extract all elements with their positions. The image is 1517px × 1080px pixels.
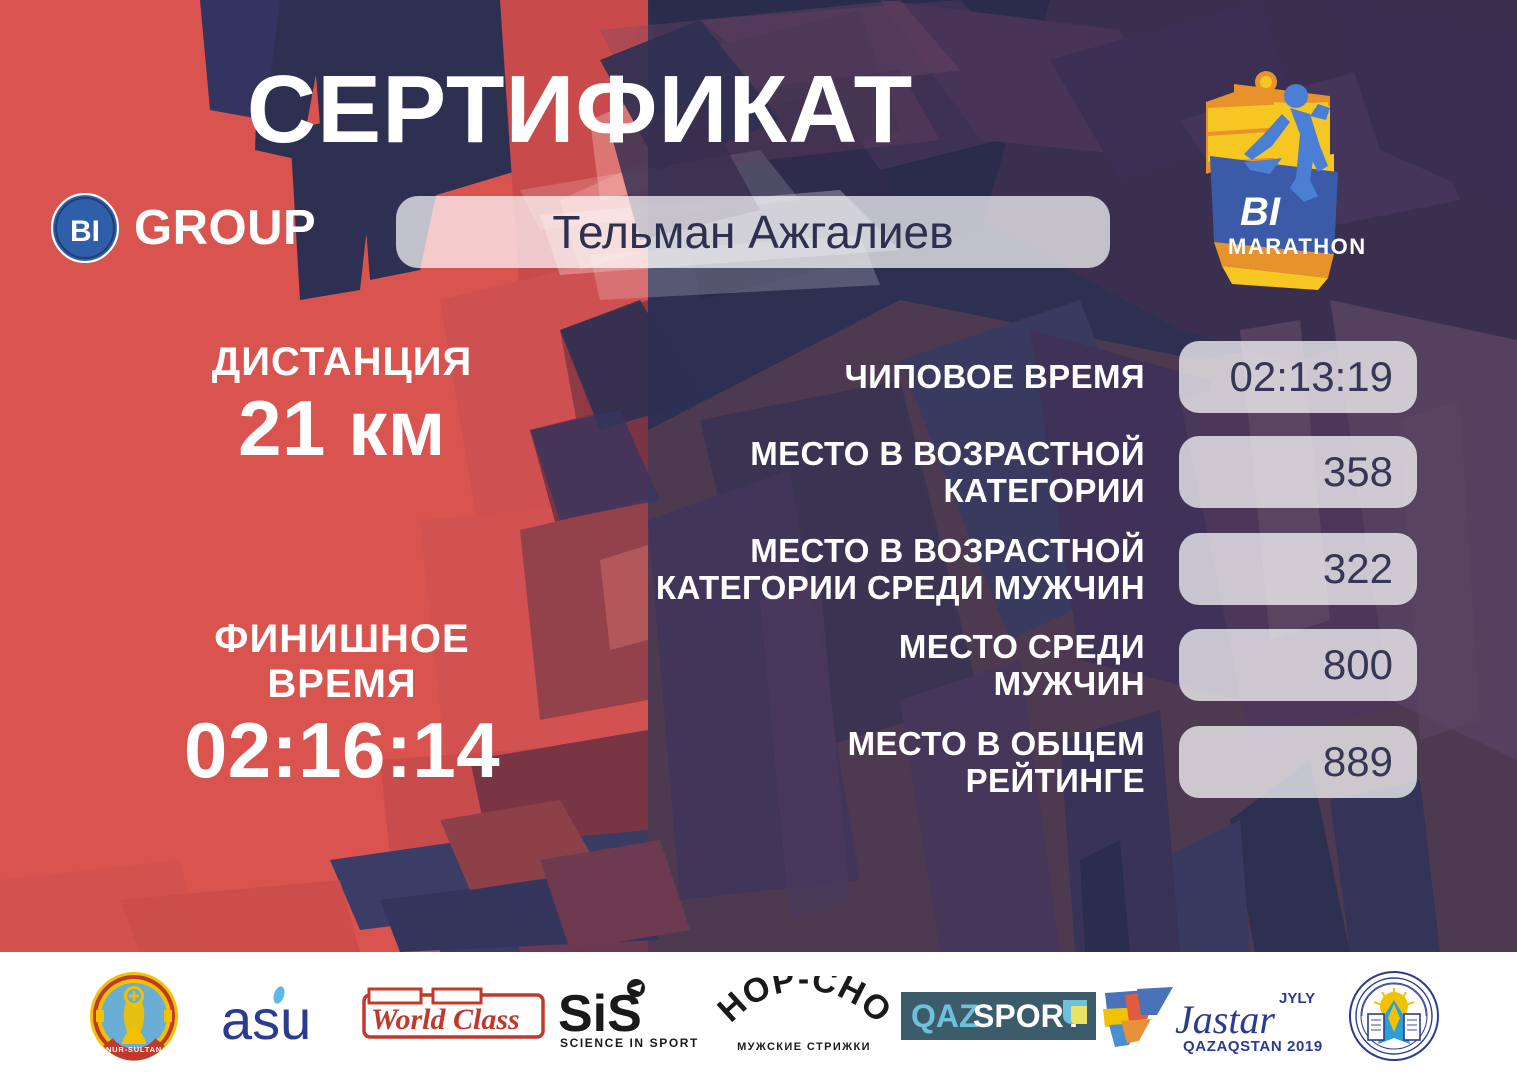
sponsor-nur-sultan: NUR-SULTAN	[59, 966, 209, 1066]
stat-row: МЕСТО СРЕДИ МУЖЧИН 800	[500, 628, 1417, 703]
svg-text:NUR-SULTAN: NUR-SULTAN	[105, 1045, 161, 1054]
sponsor-qazsport: QAZ SPORT	[899, 966, 1099, 1066]
men-place-label: МЕСТО СРЕДИ МУЖЧИН	[500, 628, 1179, 703]
ministry-emblem-icon	[1348, 970, 1440, 1062]
overall-place-chip: 889	[1179, 726, 1417, 798]
age-category-place-value: 358	[1323, 451, 1393, 493]
svg-text:Jastar: Jastar	[1175, 997, 1275, 1042]
age-category-men-place-value: 322	[1323, 548, 1393, 590]
age-category-men-place-label-line2: КАТЕГОРИИ СРЕДИ МУЖЧИН	[500, 569, 1145, 606]
age-category-place-label-line2: КАТЕГОРИИ	[500, 472, 1145, 509]
sis-logo-icon: SiS SCIENCE IN SPORT	[554, 979, 704, 1053]
bi-marathon-logo: BI MARATHON	[1178, 62, 1378, 297]
men-place-chip: 800	[1179, 629, 1417, 701]
chip-time-label: ЧИПОВОЕ ВРЕМЯ	[500, 358, 1179, 395]
chip-time-value: 02:13:19	[1230, 356, 1394, 398]
age-category-place-chip: 358	[1179, 436, 1417, 508]
age-category-men-place-label: МЕСТО В ВОЗРАСТНОЙ КАТЕГОРИИ СРЕДИ МУЖЧИ…	[500, 532, 1179, 607]
svg-text:МУЖСКИЕ СТРИЖКИ: МУЖСКИЕ СТРИЖКИ	[737, 1041, 871, 1053]
qazsport-logo-icon: QAZ SPORT	[901, 992, 1096, 1040]
stat-row: МЕСТО В ВОЗРАСТНОЙ КАТЕГОРИИ 358	[500, 435, 1417, 510]
sponsor-asu: asu	[209, 966, 359, 1066]
men-place-label-line2: МУЖЧИН	[500, 665, 1145, 702]
men-place-label-line1: МЕСТО СРЕДИ	[500, 628, 1145, 665]
svg-text:BI: BI	[70, 215, 100, 248]
marathon-bi-text: BI	[1240, 190, 1281, 234]
right-stats-column: ЧИПОВОЕ ВРЕМЯ 02:13:19 МЕСТО В ВОЗРАСТНО…	[500, 341, 1417, 821]
men-place-value: 800	[1323, 644, 1393, 686]
sponsor-world-class: World Class	[359, 966, 549, 1066]
age-category-men-place-label-line1: МЕСТО В ВОЗРАСТНОЙ	[500, 532, 1145, 569]
athlete-name-chip: Тельман Ажгалиев	[396, 196, 1110, 268]
bi-group-mark-icon: BI	[50, 193, 120, 263]
world-class-logo-icon: World Class	[361, 987, 546, 1045]
certificate-canvas: СЕРТИФИКАТ Тельман Ажгалиев BI GROUP	[0, 0, 1517, 1080]
bi-group-logo: BI GROUP	[50, 193, 316, 263]
sponsor-ministry-culture-sport	[1329, 966, 1459, 1066]
overall-place-label-line1: МЕСТО В ОБЩЕМ	[500, 725, 1145, 762]
chop-chop-logo-icon: CHOP-CHOP МУЖСКИЕ СТРИЖКИ	[714, 976, 894, 1056]
overall-place-label-line2: РЕЙТИНГЕ	[500, 762, 1145, 799]
svg-text:World: World	[371, 1003, 446, 1036]
svg-text:CHOP-CHOP: CHOP-CHOP	[714, 976, 894, 1031]
asu-logo-icon: asu	[219, 983, 349, 1049]
svg-text:JYLY: JYLY	[1279, 990, 1315, 1007]
stat-row: МЕСТО В ВОЗРАСТНОЙ КАТЕГОРИИ СРЕДИ МУЖЧИ…	[500, 532, 1417, 607]
overall-place-value: 889	[1323, 741, 1393, 783]
nur-sultan-emblem-icon: NUR-SULTAN	[88, 970, 180, 1062]
svg-text:QAZ: QAZ	[911, 998, 979, 1034]
chip-time-chip: 02:13:19	[1179, 341, 1417, 413]
page-title: СЕРТИФИКАТ	[0, 62, 1160, 158]
svg-text:QAZAQSTAN 2019: QAZAQSTAN 2019	[1183, 1038, 1323, 1055]
stat-row: МЕСТО В ОБЩЕМ РЕЙТИНГЕ 889	[500, 725, 1417, 800]
marathon-word-text: MARATHON	[1228, 234, 1367, 259]
bi-group-wordmark: GROUP	[134, 204, 316, 253]
overall-place-label: МЕСТО В ОБЩЕМ РЕЙТИНГЕ	[500, 725, 1179, 800]
stat-row: ЧИПОВОЕ ВРЕМЯ 02:13:19	[500, 341, 1417, 413]
sponsor-footer: NUR-SULTAN asu World Class	[0, 952, 1517, 1080]
svg-text:Class: Class	[453, 1003, 520, 1036]
sponsor-sis: SiS SCIENCE IN SPORT	[549, 966, 709, 1066]
sponsor-jastar-jyly: Jastar JYLY QAZAQSTAN 2019	[1099, 966, 1329, 1066]
age-category-place-label: МЕСТО В ВОЗРАСТНОЙ КАТЕГОРИИ	[500, 435, 1179, 510]
age-category-men-place-chip: 322	[1179, 533, 1417, 605]
sponsor-chop-chop: CHOP-CHOP МУЖСКИЕ СТРИЖКИ	[709, 966, 899, 1066]
jastar-jyly-logo-icon: Jastar JYLY QAZAQSTAN 2019	[1101, 975, 1326, 1057]
svg-text:SiS: SiS	[558, 985, 642, 1043]
chip-time-label-line1: ЧИПОВОЕ ВРЕМЯ	[500, 358, 1145, 395]
svg-text:asu: asu	[221, 988, 311, 1049]
svg-text:SCIENCE IN SPORT: SCIENCE IN SPORT	[560, 1036, 699, 1050]
athlete-name: Тельман Ажгалиев	[552, 209, 953, 255]
age-category-place-label-line1: МЕСТО В ВОЗРАСТНОЙ	[500, 435, 1145, 472]
